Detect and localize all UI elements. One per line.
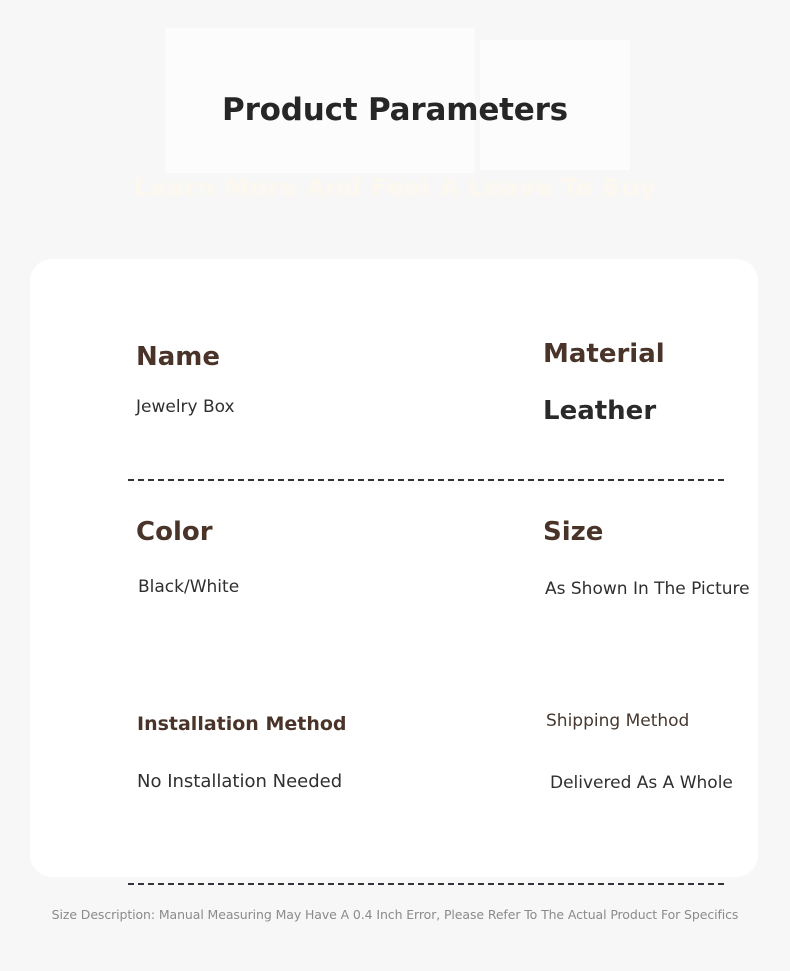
spec-label-color: Color: [136, 517, 213, 547]
spec-cell-installation-method: Installation Method No Installation Need…: [30, 663, 402, 875]
spec-value-color: Black/White: [138, 577, 239, 597]
spec-value-shipping-method: Delivered As A Whole: [550, 773, 733, 793]
size-description-note: Size Description: Manual Measuring May H…: [0, 907, 790, 922]
spec-row: Installation Method No Installation Need…: [30, 663, 758, 875]
product-parameters-page: Product Parameters Learn More And Feel A…: [0, 0, 790, 971]
spec-label-name: Name: [136, 342, 220, 372]
spec-value-size: As Shown In The Picture: [545, 579, 750, 599]
header-watermark-text: Learn More And Feel A Leave To Buy: [0, 172, 790, 204]
spec-row: Color Black/White Size As Shown In The P…: [30, 465, 758, 663]
spec-cell-name: Name Jewelry Box: [30, 259, 402, 465]
spec-label-installation-method: Installation Method: [137, 713, 347, 735]
page-title: Product Parameters: [0, 92, 790, 128]
spec-label-material: Material: [543, 339, 665, 369]
spec-cell-size: Size As Shown In The Picture: [402, 465, 758, 663]
page-header: Product Parameters Learn More And Feel A…: [0, 0, 790, 258]
spec-value-material: Leather: [543, 396, 656, 426]
row-divider: [128, 883, 724, 885]
spec-cell-shipping-method: Shipping Method Delivered As A Whole: [402, 663, 758, 875]
spec-label-size: Size: [543, 517, 603, 547]
spec-value-installation-method: No Installation Needed: [137, 771, 342, 792]
spec-value-name: Jewelry Box: [136, 397, 235, 417]
spec-row: Name Jewelry Box Material Leather: [30, 259, 758, 465]
spec-label-shipping-method: Shipping Method: [546, 711, 689, 731]
spec-cell-material: Material Leather: [402, 259, 758, 465]
parameters-grid: Name Jewelry Box Material Leather Color …: [30, 259, 758, 875]
parameters-card: Name Jewelry Box Material Leather Color …: [30, 259, 758, 877]
spec-cell-color: Color Black/White: [30, 465, 402, 663]
